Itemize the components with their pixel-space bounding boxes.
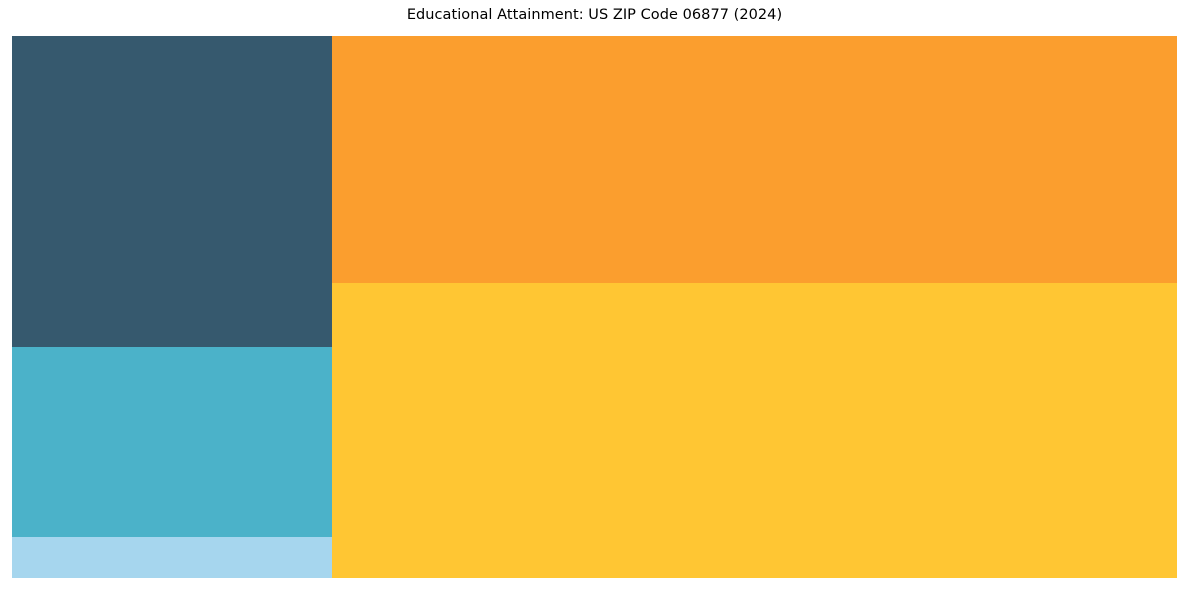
treemap-tile-associates-degree[interactable]: Associate's degree xyxy=(12,537,332,578)
treemap-tile-bachelors-degree[interactable]: Bachelor's degree xyxy=(332,283,1177,578)
treemap-figure: Educational Attainment: US ZIP Code 0687… xyxy=(0,0,1189,590)
treemap-tile-graduate-degree[interactable]: Graduate or professional degree xyxy=(332,36,1177,283)
treemap-tile-high-school-graduate[interactable]: High school graduate (or equivalent) xyxy=(12,36,332,347)
chart-title: Educational Attainment: US ZIP Code 0687… xyxy=(0,0,1189,36)
treemap-tile-some-college-no-degree[interactable]: Some college, no degree xyxy=(12,347,332,537)
treemap-plot-area: High school graduate (or equivalent) Som… xyxy=(12,36,1177,578)
